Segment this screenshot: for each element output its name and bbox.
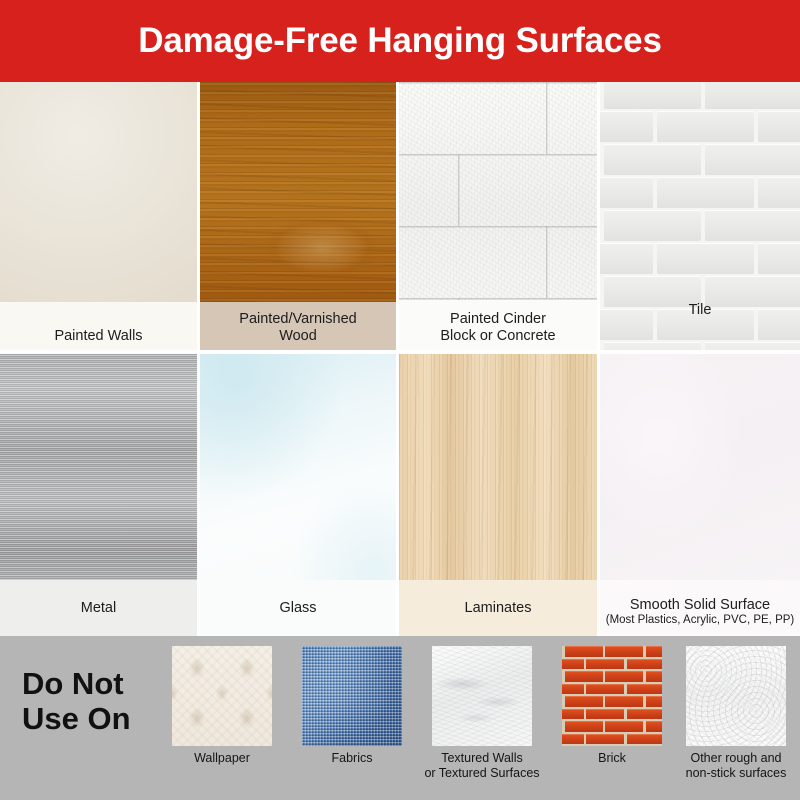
do-not-use-item-brick: Brick bbox=[562, 646, 662, 766]
surface-label-smooth-solid: Smooth Solid Surface (Most Plastics, Acr… bbox=[600, 597, 800, 636]
do-not-use-items: Wallpaper Fabrics Textured Walls or Text… bbox=[170, 636, 800, 800]
surface-label-cinder-block: Painted Cinder Block or Concrete bbox=[399, 311, 597, 350]
surface-cell-cinder-block: Painted Cinder Block or Concrete bbox=[399, 82, 597, 350]
do-not-use-item-wallpaper: Wallpaper bbox=[172, 646, 272, 766]
caption-line1: Wallpaper bbox=[194, 751, 250, 765]
surface-cell-painted-walls: Painted Walls bbox=[0, 82, 197, 350]
do-not-use-title: Do Not Use On bbox=[22, 666, 182, 736]
surface-cell-tile: Tile bbox=[600, 82, 800, 350]
surface-label-line1: Painted/Varnished bbox=[239, 311, 356, 327]
surface-label-metal: Metal bbox=[0, 600, 197, 636]
surface-cell-glass: Glass bbox=[200, 354, 396, 636]
surface-label-line1: Painted Cinder bbox=[450, 311, 546, 327]
caption-line1: Other rough and bbox=[690, 751, 781, 765]
do-not-use-section: Do Not Use On Wallpaper Fabrics Textured… bbox=[0, 636, 800, 800]
fabrics-swatch bbox=[302, 646, 402, 746]
caption-line1: Brick bbox=[598, 751, 626, 765]
surface-label-line2: Wood bbox=[279, 328, 317, 344]
header-banner: Damage-Free Hanging Surfaces bbox=[0, 0, 800, 82]
surface-label-varnished-wood: Painted/Varnished Wood bbox=[200, 311, 396, 350]
wallpaper-swatch bbox=[172, 646, 272, 746]
surface-label-laminates: Laminates bbox=[399, 600, 597, 636]
surface-label-painted-walls: Painted Walls bbox=[0, 328, 197, 350]
surface-cell-laminates: Laminates bbox=[399, 354, 597, 636]
surface-label-glass: Glass bbox=[200, 600, 396, 636]
do-not-use-caption-rough-surfaces: Other rough and non-stick surfaces bbox=[671, 751, 800, 781]
do-not-use-caption-textured-walls: Textured Walls or Textured Surfaces bbox=[417, 751, 547, 781]
brick-swatch bbox=[562, 646, 662, 746]
do-not-use-item-rough-surfaces: Other rough and non-stick surfaces bbox=[686, 646, 786, 781]
surface-label-main: Smooth Solid Surface bbox=[630, 597, 770, 613]
approved-surfaces-grid: Painted Walls Painted/Varnished Wood Pai… bbox=[0, 82, 800, 636]
surface-cell-varnished-wood: Painted/Varnished Wood bbox=[200, 82, 396, 350]
page-title: Damage-Free Hanging Surfaces bbox=[138, 21, 661, 61]
caption-line2: or Textured Surfaces bbox=[424, 766, 539, 780]
do-not-use-item-textured-walls: Textured Walls or Textured Surfaces bbox=[432, 646, 532, 781]
brick-pattern bbox=[562, 646, 662, 746]
do-not-use-caption-wallpaper: Wallpaper bbox=[157, 751, 287, 766]
surface-label-line2: Block or Concrete bbox=[440, 328, 555, 344]
do-not-use-title-line2: Use On bbox=[22, 701, 131, 736]
surface-cell-metal: Metal bbox=[0, 354, 197, 636]
rough-surfaces-swatch bbox=[686, 646, 786, 746]
do-not-use-title-line1: Do Not bbox=[22, 666, 124, 701]
do-not-use-item-fabrics: Fabrics bbox=[302, 646, 402, 766]
surface-cell-smooth-solid: Smooth Solid Surface (Most Plastics, Acr… bbox=[600, 354, 800, 636]
do-not-use-caption-brick: Brick bbox=[547, 751, 677, 766]
caption-line1: Fabrics bbox=[332, 751, 373, 765]
textured-walls-swatch bbox=[432, 646, 532, 746]
infographic-poster: Damage-Free Hanging Surfaces Painted Wal… bbox=[0, 0, 800, 800]
surface-label-tile: Tile bbox=[600, 302, 800, 324]
surface-label-sublabel: (Most Plastics, Acrylic, PVC, PE, PP) bbox=[600, 614, 800, 628]
caption-line2: non-stick surfaces bbox=[686, 766, 787, 780]
do-not-use-caption-fabrics: Fabrics bbox=[287, 751, 417, 766]
caption-line1: Textured Walls bbox=[441, 751, 523, 765]
